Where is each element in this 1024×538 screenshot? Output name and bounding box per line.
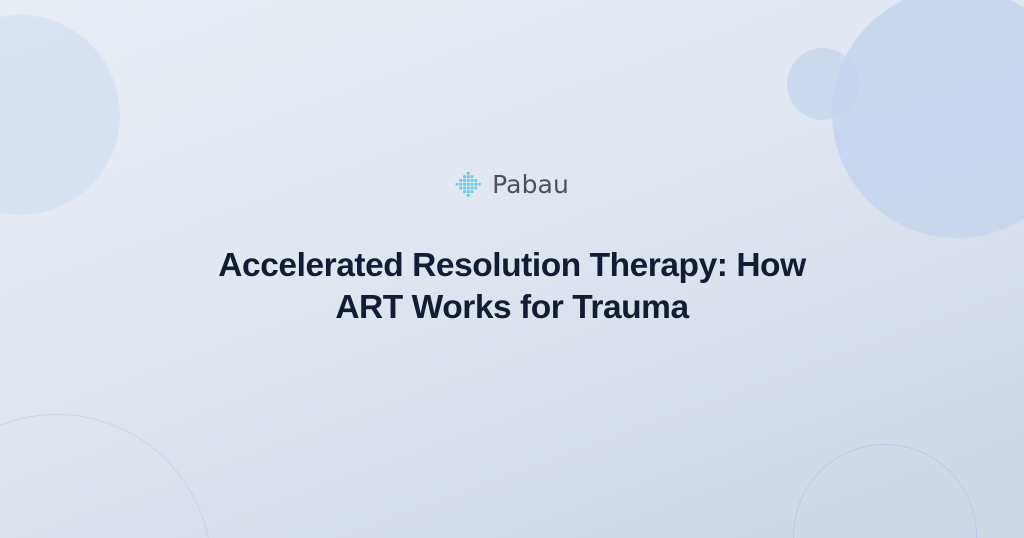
brand-lockup[interactable]: Pabau: [455, 171, 569, 199]
pabau-logo-icon: [455, 171, 483, 199]
article-hero-banner: Pabau Accelerated Resolution Therapy: Ho…: [0, 0, 1024, 538]
brand-wordmark: Pabau: [492, 172, 569, 199]
article-title: Accelerated Resolution Therapy: How ART …: [117, 245, 907, 329]
hero-content: Pabau Accelerated Resolution Therapy: Ho…: [0, 0, 1024, 538]
